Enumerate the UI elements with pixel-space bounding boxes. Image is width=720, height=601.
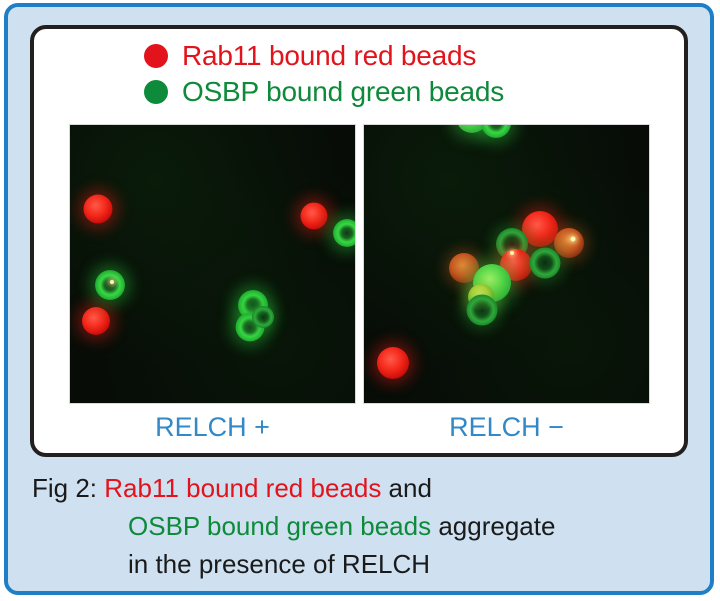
bead-red [84,195,113,224]
bead-green [252,306,274,328]
bead-green [530,248,561,279]
bead-green [467,295,498,326]
bead-green [481,125,511,138]
legend-item-red: Rab11 bound red beads [144,39,574,73]
caption-line-2: OSBP bound green beads aggregate [32,507,697,545]
caption-red-phrase: Rab11 bound red beads [104,473,381,503]
micrograph-background-right [364,125,649,403]
bead-red-dim [554,228,584,258]
micrograph-background-left [70,125,355,403]
bead-green [333,219,355,247]
bead-green [95,270,125,300]
panel-caption-relch-plus: RELCH + [70,411,355,443]
panel-captions: RELCH + RELCH − [70,411,650,443]
caption-green-phrase: OSBP bound green beads [128,511,431,541]
legend-label-red: Rab11 bound red beads [182,39,476,73]
bead-speck [571,237,576,242]
caption-line-1: Fig 2: Rab11 bound red beads and [32,469,697,507]
caption-line2-suffix: aggregate [431,511,555,541]
figure-outer-frame: Rab11 bound red beads OSBP bound green b… [4,3,714,595]
micrograph-relch-plus [70,125,355,403]
green-dot-icon [144,80,168,104]
bead-speck [110,280,114,284]
micrograph-relch-minus [364,125,649,403]
caption-line1-suffix: and [381,473,432,503]
figure-card: Rab11 bound red beads OSBP bound green b… [30,25,688,457]
panel-caption-relch-minus: RELCH − [364,411,649,443]
caption-line-3: in the presence of RELCH [32,545,697,583]
legend: Rab11 bound red beads OSBP bound green b… [34,39,684,109]
figure-caption: Fig 2: Rab11 bound red beads and OSBP bo… [32,469,697,583]
bead-red [82,307,110,335]
legend-item-green: OSBP bound green beads [144,75,574,109]
legend-label-green: OSBP bound green beads [182,75,504,109]
bead-red [377,347,409,379]
caption-fig-number: Fig 2: [32,473,104,503]
micrograph-panels [70,125,650,403]
red-dot-icon [144,44,168,68]
bead-speck [510,251,514,255]
bead-red [301,203,328,230]
